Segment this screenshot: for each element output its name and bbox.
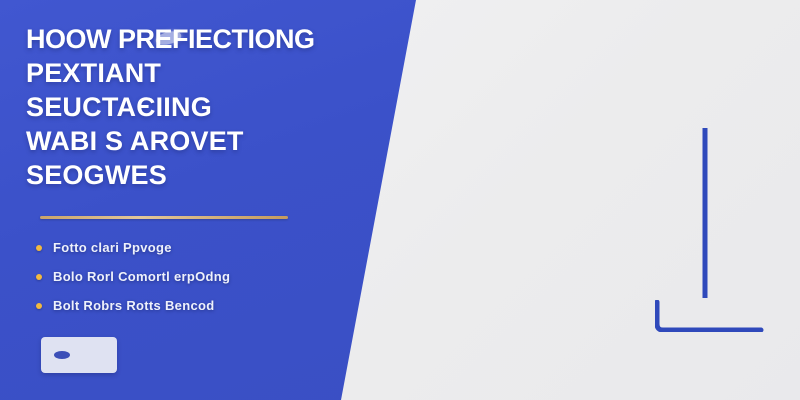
banner-graphic: HOOW PREFIECTIONG PEXTIANT SEUCTAЄIING W…: [0, 0, 800, 400]
bullet-label: Fotto clari Ppvoge: [53, 240, 172, 255]
bullet-dot-icon: [36, 245, 42, 251]
headline-line-2: PEXTIANT: [26, 56, 386, 90]
bullet-dot-icon: [36, 274, 42, 280]
mini-card-dot-icon: [81, 352, 88, 359]
headline-line-3: SEUCTAЄIING: [26, 90, 386, 124]
bullet-label: Bolt Robrs Rotts Bencod: [53, 298, 214, 313]
connector-line: [655, 300, 765, 332]
headline-line-5: SEOGWES: [26, 158, 386, 192]
bullet-dot-icon: [36, 303, 42, 309]
bullet-list: Fotto clari Ppvoge Bolo Rorl Comortl erp…: [36, 233, 230, 320]
headline-line-1: HOOW PREFIECTIONG: [26, 22, 386, 56]
headline-line-4: WABI S AROVET: [26, 124, 386, 158]
mini-card: [41, 337, 117, 373]
connector-line: [700, 128, 710, 298]
bullet-label: Bolo Rorl Comortl erpOdng: [53, 269, 230, 284]
list-item: Fotto clari Ppvoge: [36, 233, 230, 262]
list-item: Bolo Rorl Comortl erpOdng: [36, 262, 230, 291]
gold-divider: [40, 216, 288, 219]
headline-block: HOOW PREFIECTIONG PEXTIANT SEUCTAЄIING W…: [26, 22, 386, 192]
mini-card-dot-icon: [54, 351, 70, 359]
list-item: Bolt Robrs Rotts Bencod: [36, 291, 230, 320]
